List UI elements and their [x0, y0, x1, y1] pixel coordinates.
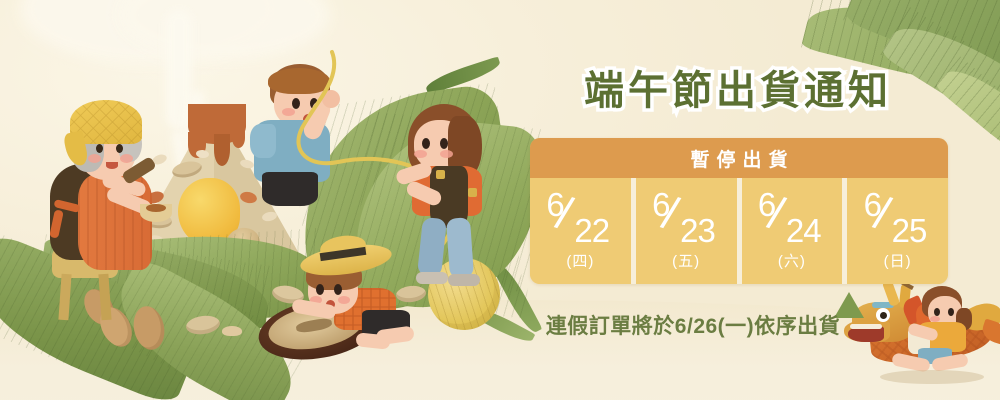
eye: [948, 308, 954, 316]
date-fraction: 6 / 24: [750, 192, 834, 254]
eye: [440, 138, 448, 149]
girl-jeans: [446, 217, 474, 279]
dragon-boat-festival-banner: 端午節出貨通知 暫停出貨 6 / 22 (四) 6 / 23 (五): [0, 0, 1000, 400]
boat-shadow: [880, 370, 984, 384]
date-day: 25: [892, 214, 927, 247]
dragon-boat: [846, 282, 1000, 392]
shipping-note: 連假訂單將於6/26(一)依序出貨: [528, 310, 858, 340]
date-card: 6 / 23 (五): [636, 178, 737, 284]
date-card: 6 / 22 (四): [530, 178, 631, 284]
apron-buckle: [436, 170, 445, 179]
eye: [334, 284, 342, 295]
apron-buckle: [468, 188, 477, 197]
crumb: [222, 326, 242, 336]
date-fraction: 6 / 23: [644, 192, 728, 254]
mouth: [106, 162, 118, 169]
shipping-pause-panel: 暫停出貨 6 / 22 (四) 6 / 23 (五): [530, 138, 948, 284]
shoe: [448, 274, 480, 286]
date-day: 23: [680, 214, 715, 247]
panel-header: 暫停出貨: [530, 138, 948, 178]
date-card-list: 6 / 22 (四) 6 / 23 (五) 6 / 24: [530, 178, 948, 284]
date-fraction: 6 / 22: [538, 192, 622, 254]
date-day: 22: [574, 214, 609, 247]
bowl-contents: [146, 204, 166, 212]
stool-leg: [98, 274, 111, 321]
cheek: [120, 154, 133, 163]
panel-header-label: 暫停出貨: [683, 145, 794, 172]
eye: [934, 308, 940, 316]
boy-with-straw-hat: [304, 250, 434, 360]
eye: [96, 144, 103, 153]
dragon-eye-pupil: [880, 312, 887, 319]
grandmother: [40, 78, 180, 308]
cheek: [414, 150, 427, 158]
page-title: 端午節出貨通知: [528, 58, 948, 116]
date-card: 6 / 25 (日): [847, 178, 948, 284]
eye: [422, 138, 430, 149]
eye: [316, 284, 324, 295]
date-day: 24: [786, 214, 821, 247]
date-card: 6 / 24 (六): [742, 178, 843, 284]
cheek: [440, 150, 453, 158]
eye: [116, 144, 123, 153]
cheek: [88, 154, 101, 163]
date-fraction: 6 / 25: [856, 192, 940, 254]
zongzi-sauce-drip: [232, 128, 245, 148]
cheek: [338, 296, 350, 304]
zongzi-sauce-drip: [214, 134, 230, 166]
leg: [355, 332, 390, 349]
